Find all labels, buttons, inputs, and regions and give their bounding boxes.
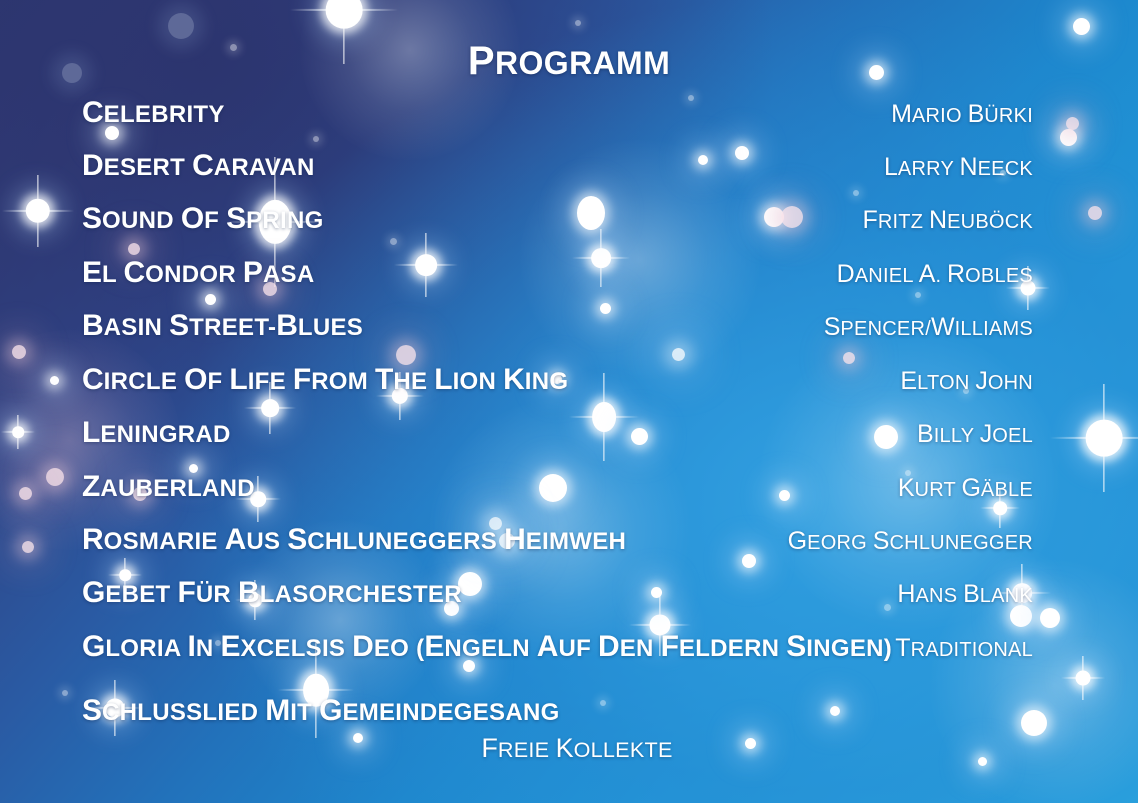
program-row: ROSMARIE AUS SCHLUNEGGERS HEIMWEH GEORG … bbox=[82, 525, 1033, 559]
program-piece: ROSMARIE AUS SCHLUNEGGERS HEIMWEH bbox=[82, 525, 626, 555]
program-piece: DESERT CARAVAN bbox=[82, 151, 315, 181]
program-list: CELEBRITY MARIO BÜRKI DESERT CARAVAN LAR… bbox=[0, 0, 1138, 803]
program-composer: BILLY JOEL bbox=[917, 422, 1033, 447]
program-row: DESERT CARAVAN LARRY NEECK bbox=[82, 151, 1033, 185]
program-piece: BASIN STREET-BLUES bbox=[82, 311, 363, 341]
program-piece: GEBET FÜR BLASORCHESTER bbox=[82, 578, 462, 608]
program-piece: SCHLUSSLIED MIT GEMEINDEGESANG bbox=[82, 696, 560, 726]
program-slide: PROGRAMM CELEBRITY MARIO BÜRKI DESERT CA… bbox=[0, 0, 1138, 803]
program-composer: GEORG SCHLUNEGGER bbox=[788, 529, 1033, 554]
program-row: GLORIA IN EXCELSIS DEO (ENGELN AUF DEN F… bbox=[82, 632, 1033, 666]
collection-note-text: FREIE KOLLEKTE bbox=[481, 733, 672, 763]
program-row: SOUND OF SPRING FRITZ NEUBÖCK bbox=[82, 204, 1033, 238]
program-piece: EL CONDOR PASA bbox=[82, 258, 314, 288]
program-row: CIRCLE OF LIFE FROM THE LION KING ELTON … bbox=[82, 365, 1033, 399]
program-row: BASIN STREET-BLUES SPENCER/WILLIAMS bbox=[82, 311, 1033, 345]
program-piece: GLORIA IN EXCELSIS DEO (ENGELN AUF DEN F… bbox=[82, 632, 892, 662]
program-row: SCHLUSSLIED MIT GEMEINDEGESANG bbox=[82, 696, 1033, 730]
program-composer: MARIO BÜRKI bbox=[891, 102, 1033, 127]
program-piece: CELEBRITY bbox=[82, 98, 225, 128]
program-piece: ZAUBERLAND bbox=[82, 472, 255, 502]
program-composer: KURT GÄBLE bbox=[898, 476, 1033, 501]
program-composer: HANS BLANK bbox=[897, 582, 1033, 607]
program-piece: SOUND OF SPRING bbox=[82, 204, 324, 234]
program-row: CELEBRITY MARIO BÜRKI bbox=[82, 98, 1033, 132]
program-composer: LARRY NEECK bbox=[884, 155, 1033, 180]
program-piece: CIRCLE OF LIFE FROM THE LION KING bbox=[82, 365, 568, 395]
program-composer: FRITZ NEUBÖCK bbox=[863, 208, 1033, 233]
program-piece: LENINGRAD bbox=[82, 418, 231, 448]
program-row: ZAUBERLAND KURT GÄBLE bbox=[82, 472, 1033, 506]
program-composer: DANIEL A. ROBLES bbox=[837, 262, 1033, 287]
collection-note: FREIE KOLLEKTE bbox=[0, 735, 1138, 762]
program-row: EL CONDOR PASA DANIEL A. ROBLES bbox=[82, 258, 1033, 292]
program-row: GEBET FÜR BLASORCHESTER HANS BLANK bbox=[82, 578, 1033, 612]
program-composer: ELTON JOHN bbox=[900, 369, 1033, 394]
program-composer: TRADITIONAL bbox=[895, 636, 1033, 661]
program-composer: SPENCER/WILLIAMS bbox=[824, 315, 1033, 340]
program-row: LENINGRAD BILLY JOEL bbox=[82, 418, 1033, 452]
